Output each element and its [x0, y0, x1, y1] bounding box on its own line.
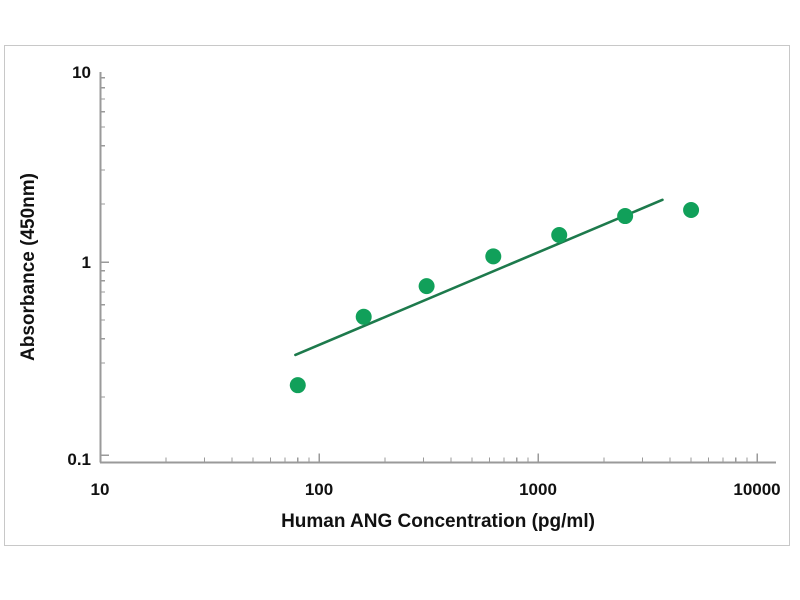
data-point-marker — [419, 278, 435, 294]
data-point-markers — [290, 202, 699, 393]
data-point-marker — [551, 227, 567, 243]
x-tick-label-100: 100 — [305, 480, 333, 499]
regression-fit-line — [295, 200, 662, 355]
y-axis-tick-labels: 10 1 0.1 — [67, 63, 91, 469]
y-tick-label-10: 10 — [72, 63, 91, 82]
y-tick-label-1: 1 — [82, 253, 91, 272]
y-axis-title: Absorbance (450nm) — [18, 173, 39, 361]
data-point-marker — [485, 248, 501, 264]
y-tick-label-0.1: 0.1 — [67, 450, 91, 469]
standard-curve-plot: 10 1 0.1 10 100 1000 10000 Human ANG Con… — [0, 0, 800, 600]
x-axis-ticks — [100, 454, 757, 463]
x-tick-label-10000: 10000 — [733, 480, 780, 499]
x-axis-title: Human ANG Concentration (pg/ml) — [281, 511, 595, 532]
x-tick-label-10: 10 — [91, 480, 110, 499]
axes-lines — [100, 72, 776, 463]
data-point-marker — [356, 309, 372, 325]
x-axis-tick-labels: 10 100 1000 10000 — [91, 480, 781, 499]
y-axis-ticks — [100, 78, 109, 455]
data-point-marker — [683, 202, 699, 218]
data-point-marker — [617, 208, 633, 224]
data-point-marker — [290, 377, 306, 393]
x-tick-label-1000: 1000 — [519, 480, 557, 499]
figure-root: 10 1 0.1 10 100 1000 10000 Human ANG Con… — [0, 0, 800, 600]
